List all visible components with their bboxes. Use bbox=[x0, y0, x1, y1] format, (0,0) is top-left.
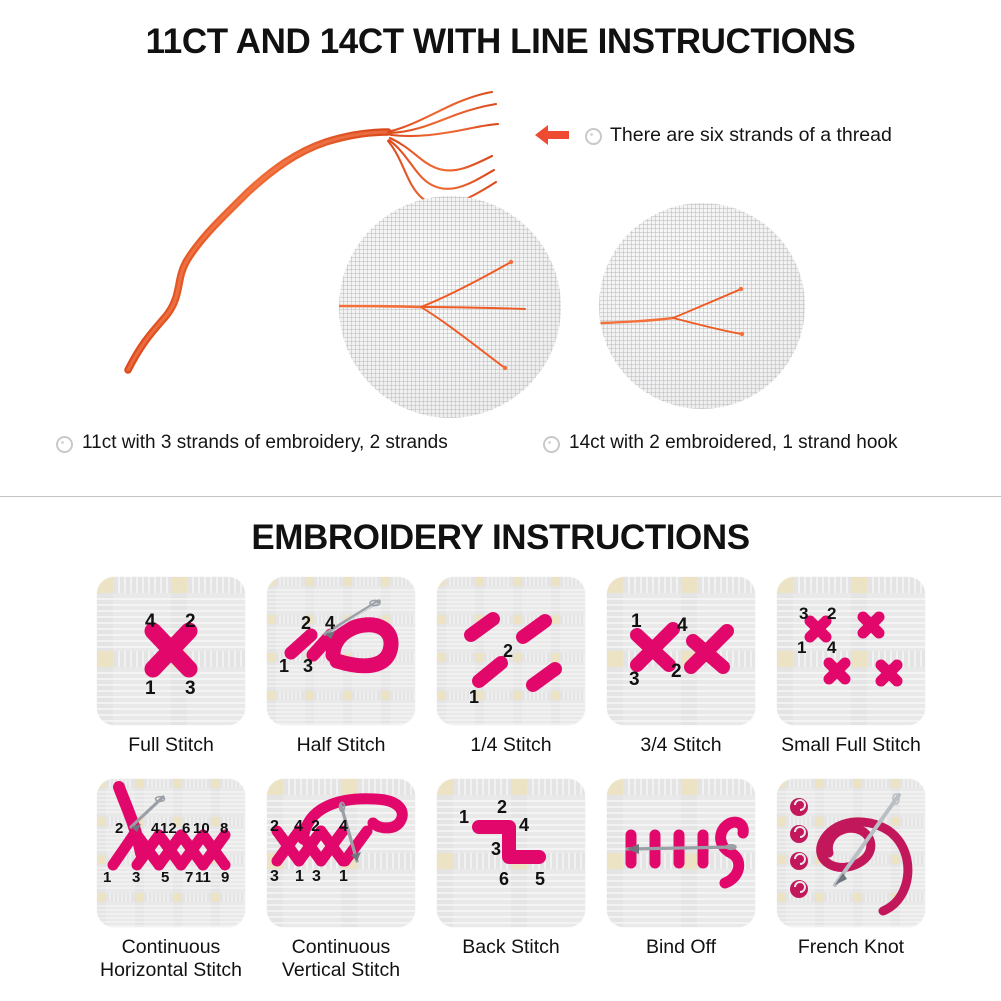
embroidery-section: EMBROIDERY INSTRUCTIONS bbox=[0, 497, 1001, 1001]
stitch-number: 1 bbox=[339, 868, 348, 885]
stitch-number: 1 bbox=[295, 868, 304, 885]
stitch-number: 4 bbox=[827, 638, 837, 657]
stitch-number: 8 bbox=[220, 820, 228, 837]
stitch-number: 2 bbox=[311, 818, 320, 835]
page-title: 11CT AND 14CT WITH LINE INSTRUCTIONS bbox=[0, 22, 1001, 62]
thread-section: 11CT AND 14CT WITH LINE INSTRUCTIONS bbox=[0, 0, 1001, 496]
stitch-cell-small-full-stitch: 3 2 1 4 Small Full Stitch bbox=[766, 577, 936, 757]
stitch-number: 2 bbox=[497, 797, 507, 817]
stitch-cell-full-stitch: 4 2 1 3 Full Stitch bbox=[86, 577, 256, 757]
stitch-number: 6 bbox=[182, 820, 190, 837]
stitch-number: 2 bbox=[671, 661, 682, 682]
stitch-number: 4 bbox=[519, 815, 529, 835]
stitch-number: 1 bbox=[103, 869, 111, 886]
stitch-number: 3 bbox=[132, 869, 140, 886]
stitch-label: Full Stitch bbox=[128, 734, 214, 757]
left-arrow-icon bbox=[533, 122, 571, 148]
stitch-cell-continuous-vertical-stitch: 2 4 2 4 3 1 3 1 Continuous Vertical Sti bbox=[256, 779, 426, 982]
stitch-number: 6 bbox=[499, 869, 509, 889]
embroidery-title: EMBROIDERY INSTRUCTIONS bbox=[0, 518, 1001, 558]
stitch-grid: 4 2 1 3 Full Stitch bbox=[0, 577, 1001, 982]
stitch-row-1: 4 2 1 3 Full Stitch bbox=[0, 577, 1001, 757]
stitch-cell-back-stitch: 1 2 4 3 6 5 Back Stitch bbox=[426, 779, 596, 982]
stitch-number: 4 bbox=[145, 611, 156, 632]
circle-bullet-icon bbox=[585, 128, 602, 145]
stitch-number: 4 bbox=[294, 818, 303, 835]
stitch-cell-bind-off: Bind Off bbox=[596, 779, 766, 982]
caption-11ct: 11ct with 3 strands of embroidery, 2 str… bbox=[56, 432, 448, 454]
stitch-number: 3 bbox=[491, 839, 501, 859]
stitch-number: 3 bbox=[799, 604, 808, 623]
caption-14ct: 14ct with 2 embroidered, 1 strand hook bbox=[543, 432, 897, 454]
stitch-number: 7 bbox=[185, 869, 193, 886]
stitch-number: 2 bbox=[270, 818, 279, 835]
stitch-row-2: 2 4 12 6 10 8 1 3 5 7 11 bbox=[0, 779, 1001, 982]
stitch-number: 1 bbox=[631, 611, 642, 632]
stitch-number: 2 bbox=[115, 820, 123, 837]
stitch-cell-three-quarter-stitch: 1 4 2 3 3/4 Stitch bbox=[596, 577, 766, 757]
stitch-number: 3 bbox=[629, 669, 640, 690]
stitch-label: 3/4 Stitch bbox=[640, 734, 721, 757]
caption-14ct-label: 14ct with 2 embroidered, 1 strand hook bbox=[569, 432, 897, 454]
stitch-number: 4 bbox=[677, 615, 688, 636]
stitch-number: 2 bbox=[827, 604, 836, 623]
stitch-number: 3 bbox=[185, 678, 196, 699]
stitch-diagram-full-stitch: 4 2 1 3 bbox=[97, 577, 245, 725]
stitch-diagram-small-full-stitch: 3 2 1 4 bbox=[777, 577, 925, 725]
stitch-number: 2 bbox=[503, 641, 513, 661]
stitch-label: Back Stitch bbox=[462, 936, 560, 959]
stitch-number: 3 bbox=[270, 868, 279, 885]
stitch-diagram-french-knot bbox=[777, 779, 925, 927]
thread-note-label: There are six strands of a thread bbox=[610, 124, 892, 147]
stitch-label: Bind Off bbox=[646, 936, 716, 959]
stitch-number: 1 bbox=[279, 656, 289, 676]
stitch-number: 5 bbox=[161, 869, 169, 886]
stitch-number: 2 bbox=[301, 613, 311, 633]
stitch-label: 1/4 Stitch bbox=[470, 734, 551, 757]
stitch-number: 10 bbox=[193, 820, 210, 837]
stitch-label: Continuous Horizontal Stitch bbox=[100, 936, 242, 982]
stitch-diagram-back-stitch: 1 2 4 3 6 5 bbox=[437, 779, 585, 927]
stitch-number: 12 bbox=[160, 820, 177, 837]
stitch-label: Continuous Vertical Stitch bbox=[282, 936, 400, 982]
stitch-number: 3 bbox=[303, 656, 313, 676]
stitch-label: Small Full Stitch bbox=[781, 734, 921, 757]
stitch-label: French Knot bbox=[798, 936, 904, 959]
stitch-number: 1 bbox=[459, 807, 469, 827]
stitch-number: 1 bbox=[469, 687, 479, 707]
stitch-number: 4 bbox=[151, 820, 160, 837]
stitch-diagram-continuous-horizontal-stitch: 2 4 12 6 10 8 1 3 5 7 11 bbox=[97, 779, 245, 927]
stitch-number: 9 bbox=[221, 869, 229, 886]
stitch-number: 1 bbox=[797, 638, 806, 657]
stitch-label: Half Stitch bbox=[297, 734, 386, 757]
stitch-number: 3 bbox=[312, 868, 321, 885]
thread-note: There are six strands of a thread bbox=[533, 122, 892, 148]
caption-11ct-label: 11ct with 3 strands of embroidery, 2 str… bbox=[82, 432, 448, 454]
stitch-cell-continuous-horizontal-stitch: 2 4 12 6 10 8 1 3 5 7 11 bbox=[86, 779, 256, 982]
stitch-number: 11 bbox=[195, 869, 211, 886]
stitch-diagram-bind-off bbox=[607, 779, 755, 927]
stitch-cell-quarter-stitch: 2 1 1/4 Stitch bbox=[426, 577, 596, 757]
fabric-circle-14ct bbox=[599, 203, 805, 409]
stitch-number: 4 bbox=[339, 818, 348, 835]
stitch-number: 4 bbox=[325, 613, 335, 633]
stitch-diagram-quarter-stitch: 2 1 bbox=[437, 577, 585, 725]
stitch-diagram-continuous-vertical-stitch: 2 4 2 4 3 1 3 1 bbox=[267, 779, 415, 927]
stitch-cell-half-stitch: 2 4 1 3 Half Stitch bbox=[256, 577, 426, 757]
fabric-circle-11ct bbox=[339, 196, 561, 418]
stitch-number: 2 bbox=[185, 611, 196, 632]
stitch-diagram-half-stitch: 2 4 1 3 bbox=[267, 577, 415, 725]
stitch-diagram-three-quarter-stitch: 1 4 2 3 bbox=[607, 577, 755, 725]
stitch-number: 5 bbox=[535, 869, 545, 889]
stitch-number: 1 bbox=[145, 678, 156, 699]
stitch-cell-french-knot: French Knot bbox=[766, 779, 936, 982]
circle-bullet-icon bbox=[543, 436, 560, 453]
circle-bullet-icon bbox=[56, 436, 73, 453]
instruction-sheet: 11CT AND 14CT WITH LINE INSTRUCTIONS bbox=[0, 0, 1001, 1001]
